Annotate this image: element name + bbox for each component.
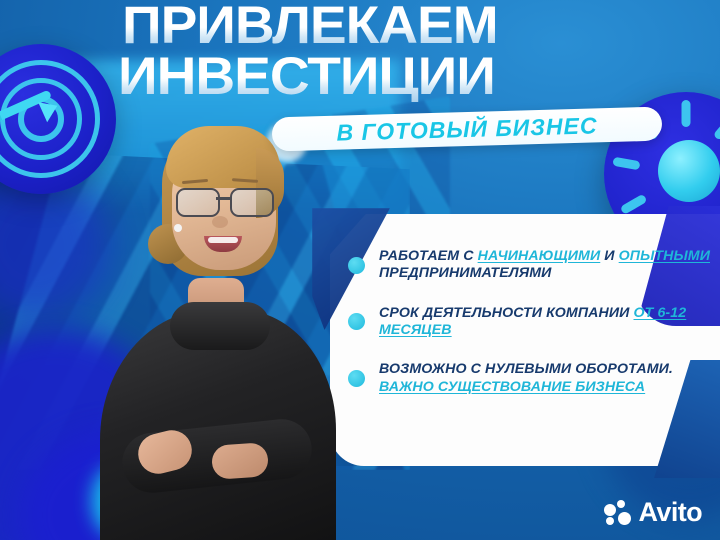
turtleneck-collar — [170, 302, 270, 350]
gear-spoke — [713, 114, 720, 140]
list-item: РАБОТАЕМ С НАЧИНАЮЩИМИ И ОПЫТНЫМИ ПРЕДПР… — [348, 248, 720, 283]
bullet-text: СРОК ДЕЯТЕЛЬНОСТИ КОМПАНИИ ОТ 6-12 МЕСЯЦ… — [379, 305, 720, 340]
plain-phrase: РАБОТАЕМ С — [379, 248, 478, 264]
highlighted-phrase: НАЧИНАЮЩИМИ — [478, 248, 601, 264]
hand — [211, 442, 269, 480]
gear-spoke — [612, 157, 640, 171]
plain-phrase: СРОК ДЕЯТЕЛЬНОСТИ КОМПАНИИ — [379, 305, 634, 321]
list-item: ВОЗМОЖНО С НУЛЕВЫМИ ОБОРОТАМИ. ВАЖНО СУЩ… — [348, 361, 720, 396]
plain-phrase: И — [600, 248, 618, 264]
list-item: СРОК ДЕЯТЕЛЬНОСТИ КОМПАНИИ ОТ 6-12 МЕСЯЦ… — [348, 305, 720, 340]
avito-dot — [617, 500, 625, 508]
avito-dot — [606, 517, 614, 525]
plain-phrase: ВОЗМОЖНО С НУЛЕВЫМИ ОБОРОТАМИ. — [379, 361, 673, 377]
bullet-text: ВОЗМОЖНО С НУЛЕВЫМИ ОБОРОТАМИ. ВАЖНО СУЩ… — [379, 361, 720, 396]
bullet-text: РАБОТАЕМ С НАЧИНАЮЩИМИ И ОПЫТНЫМИ ПРЕДПР… — [379, 248, 720, 283]
subtitle-banner-text: В ГОТОВЫЙ БИЗНЕС — [272, 110, 663, 148]
plain-phrase: ПРЕДПРИНИМАТЕЛЯМИ — [379, 265, 551, 281]
bullet-dot-icon — [348, 257, 365, 274]
avito-dot — [618, 512, 631, 525]
gear-hub — [658, 140, 720, 202]
hair-front — [166, 126, 280, 188]
highlighted-phrase: ОПЫТНЫМИ — [619, 248, 710, 264]
highlighted-phrase: ВАЖНО СУЩЕСТВОВАНИЕ БИЗНЕСА — [379, 379, 645, 395]
avito-dots-icon — [604, 500, 632, 526]
earring — [174, 224, 182, 232]
info-card-content: РАБОТАЕМ С НАЧИНАЮЩИМИ И ОПЫТНЫМИ ПРЕДПР… — [330, 214, 720, 466]
glasses-bridge — [216, 197, 230, 200]
glasses-lens — [230, 188, 274, 217]
headline-line-1: ПРИВЛЕКАЕМ — [122, 2, 720, 51]
headline-line-2: ИНВЕСТИЦИИ — [118, 53, 720, 102]
headline: ПРИВЛЕКАЕМ ИНВЕСТИЦИИ — [118, 2, 718, 102]
gear-spoke — [682, 100, 691, 127]
bullet-dot-icon — [348, 313, 365, 330]
avito-dot — [604, 504, 616, 516]
dart-tip — [38, 96, 62, 123]
nose — [212, 216, 228, 228]
avito-wordmark: Avito — [639, 499, 703, 526]
gear-spoke — [620, 194, 648, 215]
dart-icon — [0, 96, 74, 138]
glasses-icon — [176, 188, 274, 214]
avito-logo: Avito — [604, 499, 703, 526]
glasses-lens — [176, 188, 220, 217]
promo-poster: ПРИВЛЕКАЕМ ИНВЕСТИЦИИ В ГОТОВЫЙ БИЗНЕС — [0, 0, 720, 540]
bullet-dot-icon — [348, 370, 365, 387]
businesswoman-photo — [92, 96, 342, 540]
